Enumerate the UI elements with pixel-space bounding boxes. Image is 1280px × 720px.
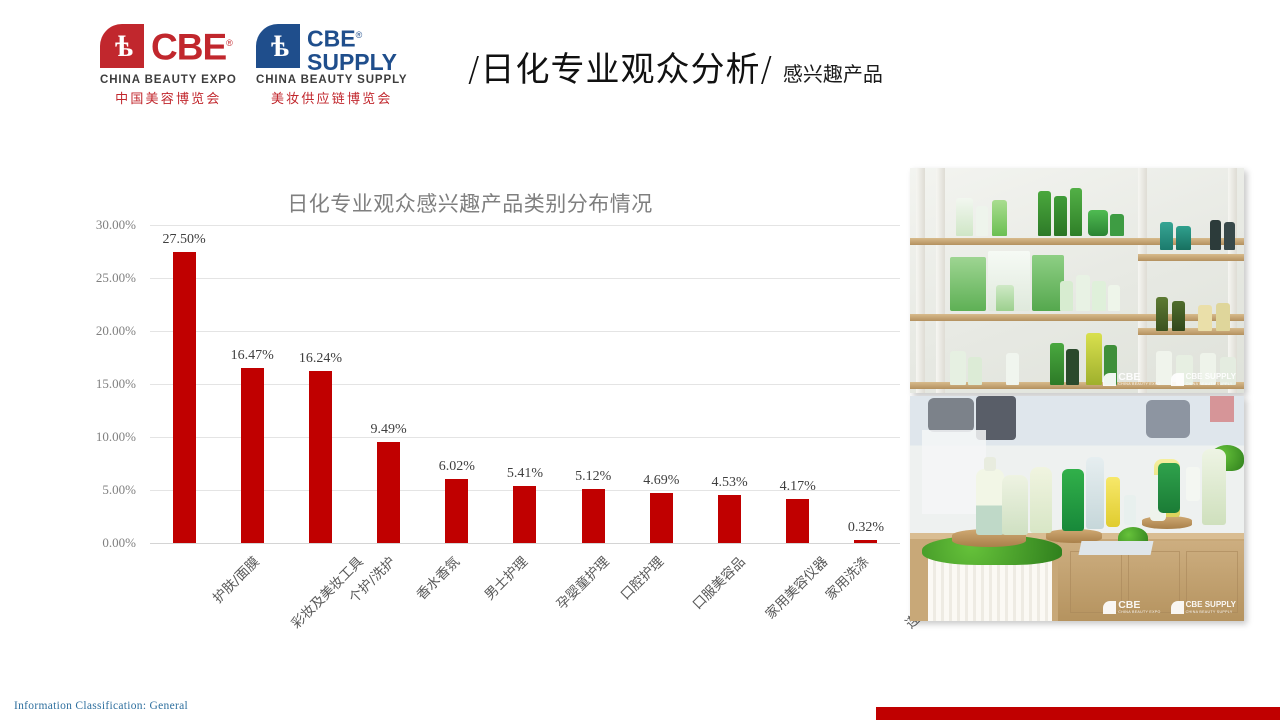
watermark-supply-sub: CHINA BEAUTY SUPPLY: [1186, 382, 1236, 386]
bar-value-label: 9.49%: [355, 422, 423, 438]
bar[interactable]: [786, 499, 809, 543]
watermark-cbe-sub: CHINA BEAUTY EXPO: [1118, 382, 1160, 386]
bar[interactable]: [513, 486, 536, 543]
page-subtitle: 感兴趣产品: [783, 58, 883, 87]
y-axis-tick: 30.00%: [96, 217, 136, 233]
x-axis-labels: 护肤/面膜彩妆及美妆工具个护/洗护香水香氛男士护理孕婴童护理口腔护理口服美容品家…: [150, 547, 900, 667]
information-classification-label: Information Classification: General: [14, 700, 188, 712]
chart-plot-area: 27.50%16.47%16.24%9.49%6.02%5.41%5.12%4.…: [150, 225, 900, 543]
cbe-supply-watermark-icon: [1171, 601, 1184, 614]
bar-value-label: 6.02%: [423, 459, 491, 475]
cbe-watermark-icon: [1103, 373, 1116, 386]
bar-slot: 16.24%: [286, 225, 354, 543]
shelf-display-photo: CBE CHINA BEAUTY EXPO CBE SUPPLY CHINA B…: [910, 168, 1244, 393]
x-axis-tick-label: 护肤/面膜: [207, 551, 263, 607]
bar-slot: 4.53%: [695, 225, 763, 543]
footer-accent-bar: [876, 707, 1280, 720]
cbe-logo-chinese: 中国美容博览会: [100, 88, 237, 107]
bar-slot: 0.32%: [832, 225, 900, 543]
bar[interactable]: [582, 489, 605, 543]
chart-plot-outer: 0.00%5.00%10.00%15.00%20.00%25.00%30.00%…: [62, 225, 900, 555]
chart-title: 日化专业观众感兴趣产品类别分布情况: [40, 188, 900, 218]
x-axis-tick-label: 家用美容仪器: [759, 551, 830, 622]
y-axis-tick: 10.00%: [96, 429, 136, 445]
bar-value-label: 27.50%: [150, 232, 218, 248]
bar[interactable]: [241, 368, 264, 543]
bar-slot: 27.50%: [150, 225, 218, 543]
y-axis-tick: 20.00%: [96, 323, 136, 339]
logo-china-beauty-expo: ѣ CBE® CHINA BEAUTY EXPO 中国美容博览会: [100, 24, 237, 107]
watermark-cbe-text: CBE: [1118, 600, 1160, 610]
photo-watermark: CBE CHINA BEAUTY EXPO CBE SUPPLY CHINA B…: [1103, 600, 1236, 614]
page-title: /日化专业观众分析/: [468, 42, 773, 91]
x-axis-tick-label: 男士护理: [479, 551, 531, 603]
registered-icon: ®: [226, 38, 232, 48]
bar-slot: 4.17%: [764, 225, 832, 543]
logo-china-beauty-supply: ѣ CBE® SUPPLY CHINA BEAUTY SUPPLY 美妆供应链博…: [256, 24, 408, 107]
bar-value-label: 4.17%: [764, 479, 832, 495]
cbe-supply-logo-initials-line1: CBE: [307, 26, 356, 52]
bar-value-label: 0.32%: [832, 520, 900, 536]
x-axis-tick-label: 香水香氛: [410, 551, 462, 603]
bar[interactable]: [309, 371, 332, 543]
bar-value-label: 16.24%: [286, 351, 354, 367]
cbe-supply-logo-initials-line2: SUPPLY: [307, 51, 397, 74]
y-axis-tick: 25.00%: [96, 270, 136, 286]
cbe-logo-mark-icon: ѣ: [100, 24, 148, 70]
counter-display-photo: CBE CHINA BEAUTY EXPO CBE SUPPLY CHINA B…: [910, 396, 1244, 621]
bar-slot: 9.49%: [355, 225, 423, 543]
registered-icon: ®: [356, 30, 363, 40]
watermark-cbe-text: CBE: [1118, 372, 1160, 382]
watermark-cbe-sub: CHINA BEAUTY EXPO: [1118, 610, 1160, 614]
bar-slot: 5.12%: [559, 225, 627, 543]
x-axis-tick-label: 孕婴童护理: [551, 551, 613, 613]
x-axis-tick-label: 口服美容品: [687, 551, 749, 613]
bar-slot: 4.69%: [627, 225, 695, 543]
slide-header: ѣ CBE® CHINA BEAUTY EXPO 中国美容博览会 ѣ CBE® …: [0, 0, 1280, 118]
bar-slot: 6.02%: [423, 225, 491, 543]
cbe-supply-logo-chinese: 美妆供应链博览会: [256, 88, 408, 107]
gridline: [150, 543, 900, 544]
bar-series: 27.50%16.47%16.24%9.49%6.02%5.41%5.12%4.…: [150, 225, 900, 543]
bar-value-label: 16.47%: [218, 348, 286, 364]
bar-value-label: 4.53%: [695, 475, 763, 491]
cbe-logo-english: CHINA BEAUTY EXPO: [100, 74, 237, 86]
watermark-supply-text: CBE SUPPLY: [1186, 372, 1236, 382]
bar-value-label: 4.69%: [627, 473, 695, 489]
cbe-supply-watermark-icon: [1171, 373, 1184, 386]
photo-watermark: CBE CHINA BEAUTY EXPO CBE SUPPLY CHINA B…: [1103, 372, 1236, 386]
watermark-supply-text: CBE SUPPLY: [1186, 600, 1236, 610]
y-axis-tick: 15.00%: [96, 376, 136, 392]
y-axis-tick: 5.00%: [102, 482, 136, 498]
cbe-supply-logo-mark-icon: ѣ: [256, 24, 304, 70]
bar-slot: 16.47%: [218, 225, 286, 543]
bar-value-label: 5.41%: [491, 466, 559, 482]
slide-title-group: /日化专业观众分析/ 感兴趣产品: [468, 42, 883, 91]
bar[interactable]: [445, 479, 468, 543]
bar[interactable]: [173, 252, 196, 544]
bar[interactable]: [650, 493, 673, 543]
cbe-supply-logo-english: CHINA BEAUTY SUPPLY: [256, 74, 408, 86]
x-axis-tick-label: 口腔护理: [615, 551, 667, 603]
bar[interactable]: [718, 495, 741, 543]
watermark-supply-sub: CHINA BEAUTY SUPPLY: [1186, 610, 1236, 614]
bar-slot: 5.41%: [491, 225, 559, 543]
bar[interactable]: [377, 442, 400, 543]
y-axis: 0.00%5.00%10.00%15.00%20.00%25.00%30.00%: [62, 225, 144, 543]
bar[interactable]: [854, 540, 877, 543]
bar-value-label: 5.12%: [559, 469, 627, 485]
chart-panel: 日化专业观众感兴趣产品类别分布情况 0.00%5.00%10.00%15.00%…: [40, 150, 900, 660]
cbe-watermark-icon: [1103, 601, 1116, 614]
y-axis-tick: 0.00%: [102, 535, 136, 551]
x-axis-tick-label: 家用洗涤: [820, 551, 872, 603]
cbe-logo-initials: CBE: [151, 26, 226, 67]
